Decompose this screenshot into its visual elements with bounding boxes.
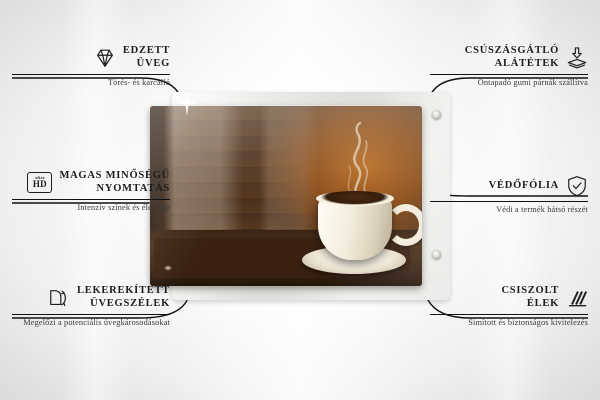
- feature-csuszasgatlo-alatetek: CSÚSZÁSGÁTLÓ ALÁTÉTEK Öntapadó gumi párn…: [430, 45, 588, 88]
- feature-heading: VÉDŐFÓLIA: [430, 175, 588, 197]
- feature-magas-minosegu-nyomtatas: ultra HD MAGAS MINŐSÉGŰ NYOMTATÁS Intenz…: [12, 170, 170, 213]
- feature-heading: CSÚSZÁSGÁTLÓ ALÁTÉTEK: [430, 45, 588, 70]
- divider: [430, 74, 588, 75]
- feature-heading: LEKEREKÍTETT ÜVEGSZÉLEK: [12, 285, 170, 310]
- divider: [12, 314, 170, 315]
- feature-subtitle: Megelőzi a potenciális üvegkárosodásokat: [12, 318, 170, 328]
- feature-title: CSÚSZÁSGÁTLÓ ALÁTÉTEK: [430, 45, 559, 70]
- divider: [430, 314, 588, 315]
- infographic-canvas: EDZETT ÜVEG Törés- és karcálló ultra HD …: [0, 0, 600, 400]
- feature-heading: EDZETT ÜVEG: [12, 45, 170, 70]
- coffee-cup: [318, 198, 392, 260]
- ultra-hd-icon: ultra HD: [27, 172, 52, 193]
- feature-vedofolia: VÉDŐFÓLIA Védi a termék hátsó részét: [430, 175, 588, 215]
- feature-heading: ultra HD MAGAS MINŐSÉGŰ NYOMTATÁS: [12, 170, 170, 195]
- polished-edge-lines-icon: [566, 287, 588, 309]
- feature-title: EDZETT ÜVEG: [123, 45, 170, 70]
- divider: [430, 201, 588, 202]
- feature-edzett-uveg: EDZETT ÜVEG Törés- és karcálló: [12, 45, 170, 88]
- mounting-screw: [432, 250, 441, 259]
- diamond-icon: [94, 47, 116, 69]
- feature-title: LEKEREKÍTETT ÜVEGSZÉLEK: [77, 285, 170, 310]
- feature-subtitle: Törés- és karcálló: [12, 78, 170, 88]
- product-image: [150, 92, 450, 300]
- feature-subtitle: Intenzív színek és éles kép: [12, 203, 170, 213]
- feature-heading: CSISZOLT ÉLEK: [430, 285, 588, 310]
- ultra-hd-icon-big-label: HD: [33, 180, 47, 189]
- rounded-edge-icon: [48, 287, 70, 309]
- feature-title: CSISZOLT ÉLEK: [430, 285, 559, 310]
- feature-title: VÉDŐFÓLIA: [430, 180, 559, 193]
- tempered-glass-panel: [150, 106, 422, 286]
- adhesive-pad-arrow-icon: [566, 47, 588, 69]
- feature-subtitle: Öntapadó gumi párnák szállítva: [430, 78, 588, 88]
- divider: [12, 74, 170, 75]
- feature-lekerekitett-uvegszelek: LEKEREKÍTETT ÜVEGSZÉLEK Megelőzi a poten…: [12, 285, 170, 328]
- steam-icon: [336, 122, 380, 200]
- mounting-screw: [432, 110, 441, 119]
- feature-subtitle: Védi a termék hátsó részét: [430, 205, 588, 215]
- feature-subtitle: Simított és biztonságos kivitelezés: [430, 318, 588, 328]
- shield-check-icon: [566, 175, 588, 197]
- feature-csiszolt-elek: CSISZOLT ÉLEK Simított és biztonságos ki…: [430, 285, 588, 328]
- cup-rim-coffee: [316, 191, 394, 206]
- divider: [12, 199, 170, 200]
- feature-title: MAGAS MINŐSÉGŰ NYOMTATÁS: [59, 170, 170, 195]
